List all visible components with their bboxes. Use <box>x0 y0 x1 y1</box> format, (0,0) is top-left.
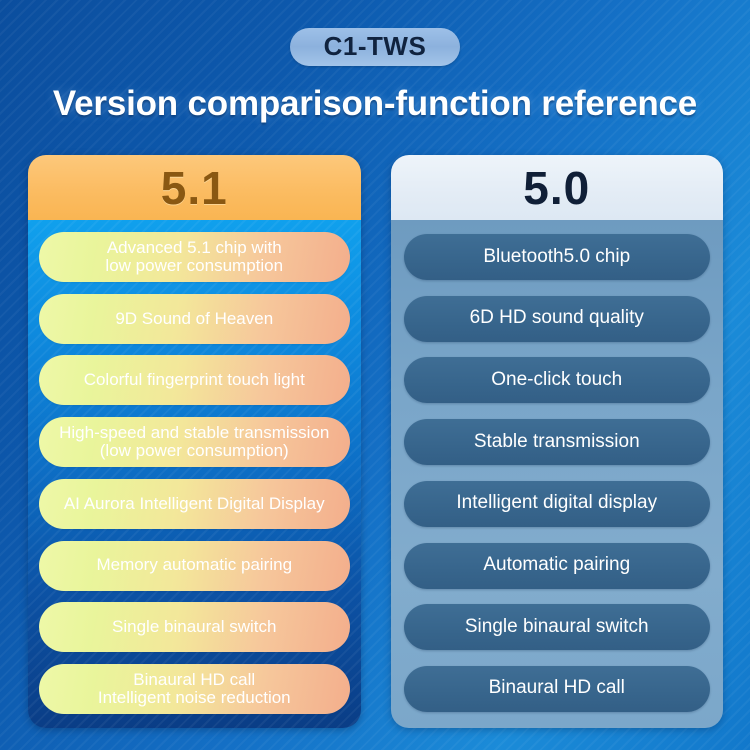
feature-5-1-item-label: Single binaural switch <box>112 618 276 636</box>
feature-list-5-0: Bluetooth5.0 chip6D HD sound qualityOne-… <box>391 220 724 728</box>
feature-5-0-item-line1: Stable transmission <box>474 431 640 452</box>
feature-5-1-item[interactable]: Colorful fingerprint touch light <box>41 357 348 403</box>
version-header-5-1: 5.1 <box>28 155 361 220</box>
feature-5-1-item-line1: 9D Sound of Heaven <box>115 309 273 328</box>
page-background: C1-TWS Version comparison-function refer… <box>0 0 750 750</box>
feature-5-1-item-line1: AI Aurora Intelligent Digital Display <box>64 494 325 513</box>
feature-5-0-item-label: One-click touch <box>491 370 622 391</box>
feature-5-0-item[interactable]: Bluetooth5.0 chip <box>404 234 711 280</box>
feature-5-1-item-line1: High-speed and stable transmission <box>59 423 329 442</box>
feature-5-0-item-line1: Automatic pairing <box>483 554 630 575</box>
feature-5-1-item-line2: Intelligent noise reduction <box>98 689 291 707</box>
feature-5-0-item[interactable]: Intelligent digital display <box>404 481 711 527</box>
feature-5-1-item-line2: low power consumption <box>105 257 283 275</box>
feature-5-0-item-label: Stable transmission <box>474 432 640 453</box>
feature-5-0-item-label: Automatic pairing <box>483 555 630 576</box>
feature-5-0-item[interactable]: Single binaural switch <box>404 604 711 650</box>
feature-5-0-item-line1: Single binaural switch <box>465 616 649 637</box>
feature-5-1-item[interactable]: Memory automatic pairing <box>41 543 348 589</box>
feature-5-1-item[interactable]: High-speed and stable transmission(low p… <box>41 419 348 465</box>
feature-5-1-item-line1: Single binaural switch <box>112 617 276 636</box>
feature-list-5-1: Advanced 5.1 chip withlow power consumpt… <box>28 220 361 728</box>
feature-5-0-item-line1: Binaural HD call <box>489 677 625 698</box>
feature-5-1-item-label: Advanced 5.1 chip withlow power consumpt… <box>105 239 283 276</box>
feature-5-1-item-line1: Memory automatic pairing <box>96 555 292 574</box>
feature-5-0-item-label: 6D HD sound quality <box>470 308 644 329</box>
feature-5-0-item-line1: Bluetooth5.0 chip <box>483 246 630 267</box>
feature-5-0-item-line1: One-click touch <box>491 369 622 390</box>
feature-5-0-item[interactable]: One-click touch <box>404 357 711 403</box>
feature-5-1-item[interactable]: AI Aurora Intelligent Digital Display <box>41 481 348 527</box>
version-card-5-0: 5.0 Bluetooth5.0 chip6D HD sound quality… <box>391 155 724 728</box>
product-badge-row: C1-TWS <box>0 28 750 66</box>
feature-5-1-item[interactable]: Binaural HD callIntelligent noise reduct… <box>41 666 348 712</box>
feature-5-1-item-label: Colorful fingerprint touch light <box>84 371 305 389</box>
feature-5-1-item-line1: Colorful fingerprint touch light <box>84 370 305 389</box>
feature-5-0-item[interactable]: Stable transmission <box>404 419 711 465</box>
feature-5-1-item-label: 9D Sound of Heaven <box>115 310 273 328</box>
feature-5-1-item-label: High-speed and stable transmission(low p… <box>59 424 329 461</box>
feature-5-0-item[interactable]: Binaural HD call <box>404 666 711 712</box>
feature-5-1-item[interactable]: Single binaural switch <box>41 604 348 650</box>
feature-5-1-item-label: Memory automatic pairing <box>96 556 292 574</box>
feature-5-1-item-line1: Binaural HD call <box>133 670 255 689</box>
feature-5-0-item-label: Single binaural switch <box>465 617 649 638</box>
page-title: Version comparison-function reference <box>0 84 750 124</box>
product-badge: C1-TWS <box>290 28 461 66</box>
feature-5-1-item-line2: (low power consumption) <box>59 442 329 460</box>
feature-5-1-item-line1: Advanced 5.1 chip with <box>107 238 282 257</box>
feature-5-1-item[interactable]: 9D Sound of Heaven <box>41 296 348 342</box>
feature-5-0-item-line1: Intelligent digital display <box>456 492 657 513</box>
comparison-columns: 5.1 Advanced 5.1 chip withlow power cons… <box>28 155 723 728</box>
feature-5-1-item[interactable]: Advanced 5.1 chip withlow power consumpt… <box>41 234 348 280</box>
feature-5-0-item-label: Binaural HD call <box>489 678 625 699</box>
feature-5-0-item[interactable]: Automatic pairing <box>404 543 711 589</box>
feature-5-0-item-label: Bluetooth5.0 chip <box>483 247 630 268</box>
version-card-5-1: 5.1 Advanced 5.1 chip withlow power cons… <box>28 155 361 728</box>
feature-5-0-item[interactable]: 6D HD sound quality <box>404 296 711 342</box>
feature-5-1-item-label: Binaural HD callIntelligent noise reduct… <box>98 671 291 708</box>
feature-5-0-item-line1: 6D HD sound quality <box>470 307 644 328</box>
version-header-5-0: 5.0 <box>391 155 724 220</box>
feature-5-0-item-label: Intelligent digital display <box>456 493 657 514</box>
feature-5-1-item-label: AI Aurora Intelligent Digital Display <box>64 495 325 513</box>
